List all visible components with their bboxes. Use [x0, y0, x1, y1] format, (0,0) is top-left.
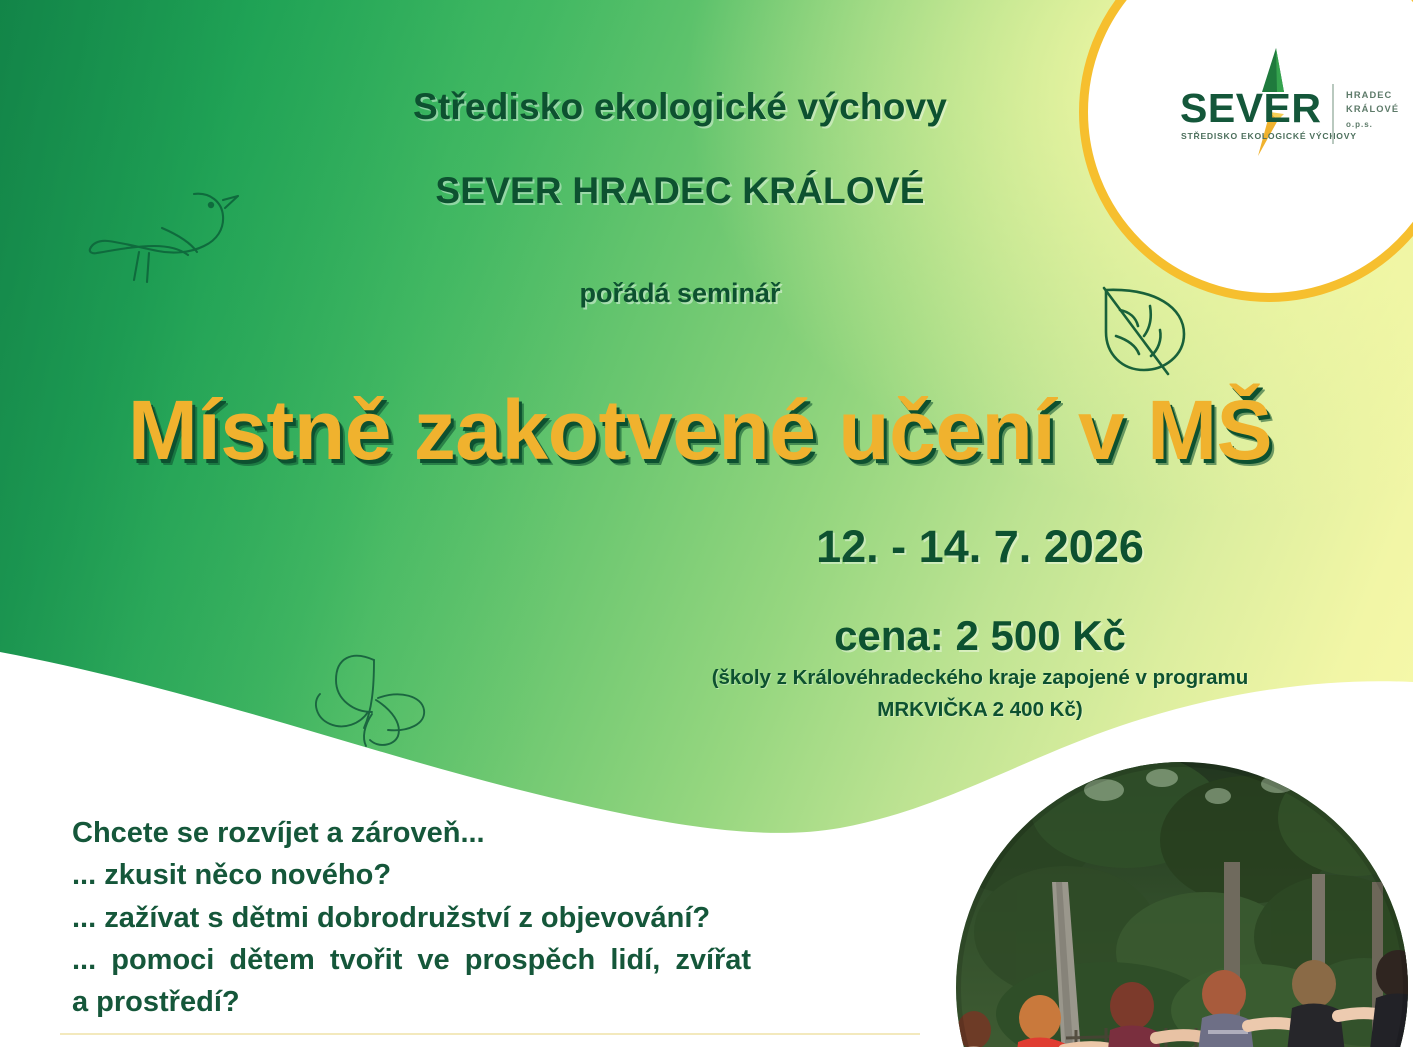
event-kind-label: pořádá seminář — [0, 278, 1360, 309]
price-note: (školy z Královéhradeckého kraje zapojen… — [600, 662, 1360, 726]
organization-heading: Středisko ekologické výchovy SEVER HRADE… — [0, 86, 1360, 212]
organization-line-1: Středisko ekologické výchovy — [0, 86, 1360, 128]
price-note-line-1: (školy z Královéhradeckého kraje zapojen… — [600, 662, 1360, 694]
butterfly-icon — [312, 642, 442, 754]
question-line: ... pomoci dětem tvořit ve prospěch lidí… — [72, 939, 972, 981]
question-line: ... zažívat s dětmi dobrodružství z obje… — [72, 897, 972, 939]
questions-block: Chcete se rozvíjet a zároveň... ... zkus… — [72, 812, 972, 1024]
question-line: ... zkusit něco nového? — [72, 854, 972, 896]
bottom-rule — [60, 1033, 920, 1035]
question-line: a prostředí? — [72, 981, 972, 1023]
seminar-date: 12. - 14. 7. 2026 — [660, 521, 1300, 573]
price-note-line-2: MRKVIČKA 2 400 Kč) — [600, 694, 1360, 726]
organization-line-2: SEVER HRADEC KRÁLOVÉ — [0, 170, 1360, 212]
question-line: Chcete se rozvíjet a zároveň... — [72, 812, 972, 854]
poster-canvas: SEVER STŘEDISKO EKOLOGICKÉ VÝCHOVY HRADE… — [0, 0, 1413, 1047]
seminar-price: cena: 2 500 Kč — [660, 612, 1300, 660]
seminar-title: Místně zakotvené učení v MŠ — [0, 382, 1400, 479]
